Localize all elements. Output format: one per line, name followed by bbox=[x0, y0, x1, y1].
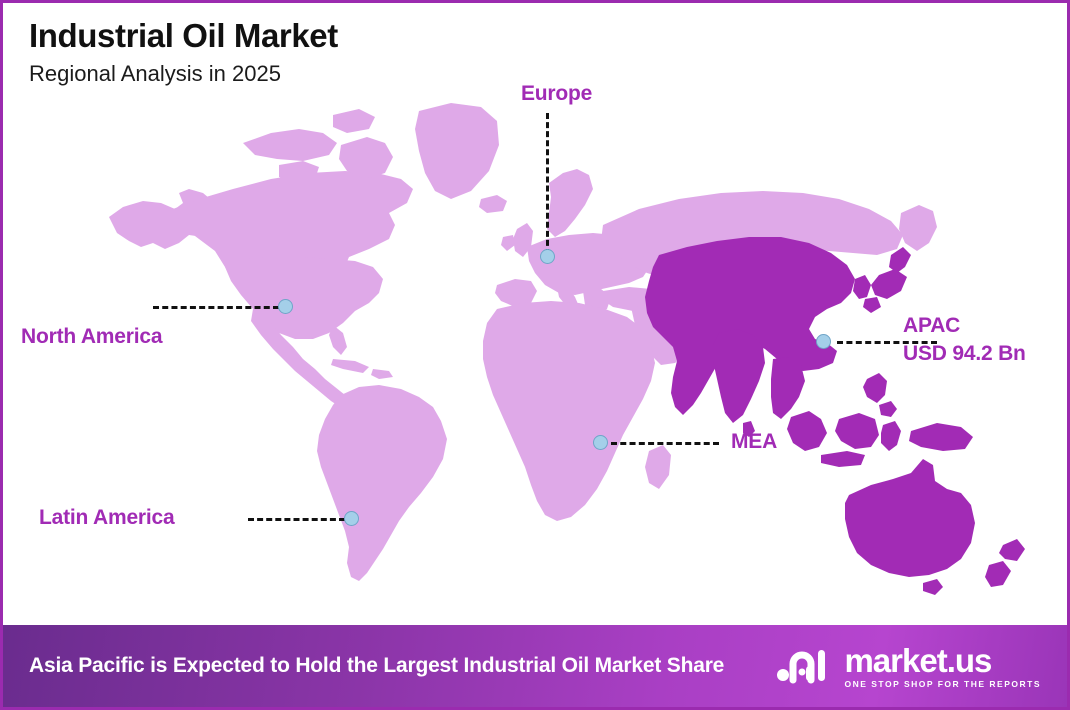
landmass-florida bbox=[329, 325, 347, 355]
highlight-new-zealand-south bbox=[985, 561, 1011, 587]
region-marker-europe[interactable] bbox=[540, 249, 555, 264]
highlight-india bbox=[713, 329, 765, 423]
highlight-papua-new-guinea bbox=[909, 423, 973, 451]
market-us-logo-icon bbox=[776, 642, 832, 691]
region-label-europe: Europe bbox=[521, 82, 592, 107]
region-value-apac: USD 94.2 Bn bbox=[903, 342, 1026, 367]
brand-text-block: market.us ONE STOP SHOP FOR THE REPORTS bbox=[844, 644, 1041, 689]
landmass-kamchatka bbox=[899, 205, 937, 251]
brand-name: market.us bbox=[844, 644, 991, 677]
brand-tagline: ONE STOP SHOP FOR THE REPORTS bbox=[844, 680, 1041, 689]
region-label-apac: APAC bbox=[903, 314, 960, 339]
leader-line-mea bbox=[611, 442, 719, 445]
landmass-madagascar bbox=[645, 445, 671, 489]
landmass-africa bbox=[483, 301, 655, 521]
highlight-philippines-south bbox=[879, 401, 897, 417]
highlight-apac-group bbox=[645, 237, 1025, 595]
highlight-japan-kyushu bbox=[863, 297, 881, 313]
region-label-north-america: North America bbox=[21, 325, 162, 350]
highlight-sulawesi bbox=[881, 421, 901, 451]
highlight-new-zealand-north bbox=[999, 539, 1025, 561]
footer-caption: Asia Pacific is Expected to Hold the Lar… bbox=[29, 652, 724, 679]
header: Industrial Oil Market Regional Analysis … bbox=[29, 17, 338, 86]
highlight-australia bbox=[845, 459, 975, 577]
landmass-hispaniola bbox=[371, 369, 393, 379]
region-marker-apac[interactable] bbox=[816, 334, 831, 349]
highlight-java bbox=[821, 451, 865, 467]
region-label-mea: MEA bbox=[731, 430, 777, 455]
leader-line-europe bbox=[546, 113, 549, 255]
landmass-scandinavia bbox=[547, 169, 593, 237]
landmass-united-states bbox=[225, 257, 383, 339]
leader-line-latin-america bbox=[248, 518, 345, 521]
page-title: Industrial Oil Market bbox=[29, 17, 338, 55]
landmass-greenland bbox=[415, 103, 499, 199]
highlight-japan bbox=[889, 247, 911, 273]
highlight-indochina bbox=[771, 357, 805, 419]
landmass-ireland bbox=[501, 235, 515, 251]
highlight-korea bbox=[853, 275, 871, 299]
highlight-borneo bbox=[835, 413, 879, 449]
highlight-sumatra bbox=[787, 411, 827, 451]
region-marker-latin-america[interactable] bbox=[344, 511, 359, 526]
region-marker-mea[interactable] bbox=[593, 435, 608, 450]
page-subtitle: Regional Analysis in 2025 bbox=[29, 61, 338, 86]
infographic-canvas: Industrial Oil Market Regional Analysis … bbox=[0, 0, 1070, 710]
landmass-ellesmere bbox=[333, 109, 375, 133]
brand-logo[interactable]: market.us ONE STOP SHOP FOR THE REPORTS bbox=[776, 642, 1041, 691]
region-label-latin-america: Latin America bbox=[39, 506, 175, 531]
leader-line-apac bbox=[837, 341, 937, 344]
landmass-arctic-islands bbox=[243, 129, 337, 161]
highlight-japan-honshu bbox=[871, 269, 907, 299]
highlight-philippines bbox=[863, 373, 887, 403]
landmass-cuba bbox=[331, 359, 369, 373]
landmass-iceland bbox=[479, 195, 507, 213]
region-marker-north-america[interactable] bbox=[278, 299, 293, 314]
highlight-tasmania bbox=[923, 579, 943, 595]
footer-banner: Asia Pacific is Expected to Hold the Lar… bbox=[3, 625, 1067, 707]
landmass-south-america bbox=[317, 385, 447, 581]
leader-line-north-america bbox=[153, 306, 279, 309]
